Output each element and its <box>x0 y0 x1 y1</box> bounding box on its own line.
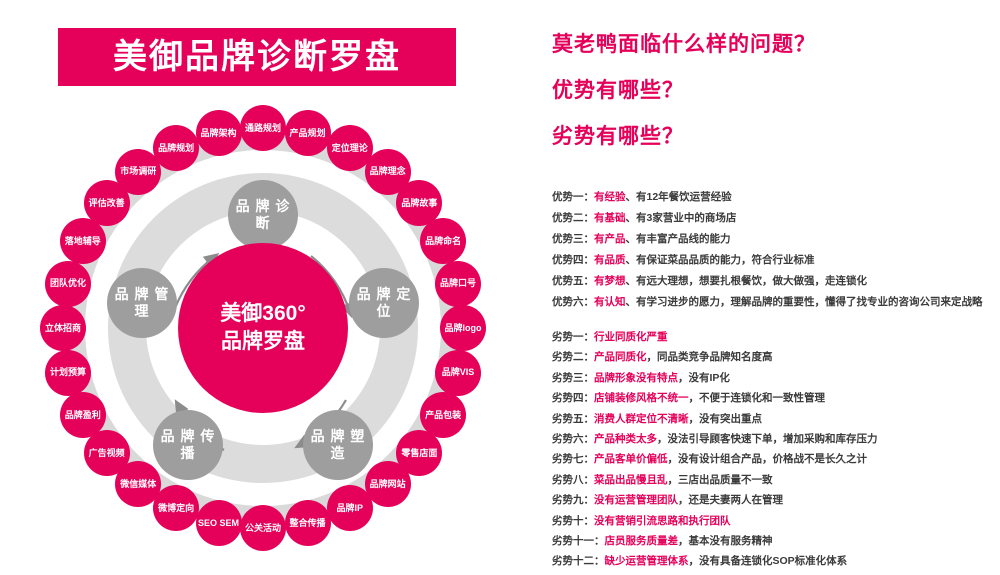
item-label: 劣势四： <box>552 392 594 404</box>
list-item: 劣势八：菜品出品慢且乱，三店出品质量不一致 <box>552 473 1000 488</box>
node-label: 品 牌 管 理 <box>107 286 177 321</box>
node-brand-diagnosis[interactable]: 品 牌 诊 断 <box>228 180 298 250</box>
node-label: 品 牌 传 播 <box>153 428 223 463</box>
item-highlight: 有基础 <box>594 212 626 224</box>
item-highlight: 消费人群定位不清晰 <box>594 413 689 425</box>
list-item: 劣势一：行业同质化严重 <box>552 330 1000 345</box>
petal-label: 产品规划 <box>289 128 325 138</box>
petal-label: 品牌口号 <box>440 278 476 288</box>
item-label: 劣势六： <box>552 433 594 445</box>
item-rest: ，没有IP化 <box>678 372 730 384</box>
petal-item[interactable]: SEO SEM <box>196 500 242 546</box>
list-item: 优势五：有梦想、有远大理想，想要扎根餐饮，做大做强，走连锁化 <box>552 274 1000 289</box>
item-label: 优势二： <box>552 212 594 224</box>
petal-label: 品牌命名 <box>425 236 461 246</box>
question-3: 劣势有哪些？ <box>552 120 992 150</box>
petal-label: 品牌IP <box>337 503 364 513</box>
node-brand-positioning[interactable]: 品 牌 定 位 <box>349 268 419 338</box>
item-rest: 、有远大理想，想要扎根餐饮，做大做强，走连锁化 <box>626 275 868 287</box>
petal-label: 品牌logo <box>445 323 482 333</box>
item-label: 劣势一： <box>552 331 594 343</box>
petal-label: 公关活动 <box>245 523 281 533</box>
petal-item[interactable]: 落地辅导 <box>60 218 106 264</box>
petal-label: 产品包装 <box>425 410 461 420</box>
petal-label: 品牌架构 <box>200 128 236 138</box>
list-item: 劣势三：品牌形象没有特点，没有IP化 <box>552 371 1000 386</box>
item-label: 劣势十： <box>552 515 594 527</box>
list-item: 劣势十一：店员服务质量差，基本没有服务精神 <box>552 534 1000 549</box>
petal-item[interactable]: 立体招商 <box>40 305 86 351</box>
left-diagram-panel: 美御品牌诊断罗盘 品 牌 诊 断 品 牌 定 位 <box>0 0 520 563</box>
item-label: 劣势八： <box>552 474 594 486</box>
petal-item[interactable]: 公关活动 <box>240 505 286 551</box>
list-item: 优势三：有产品、有丰富产品线的能力 <box>552 232 1000 247</box>
petal-item[interactable]: 品牌盈利 <box>60 392 106 438</box>
petal-item[interactable]: 品牌IP <box>327 485 373 531</box>
list-item: 劣势五：消费人群定位不清晰，没有突出重点 <box>552 412 1000 427</box>
petal-label: 零售店面 <box>401 448 437 458</box>
brand-compass-diagram: 品 牌 诊 断 品 牌 定 位 品 牌 塑 造 品 牌 传 播 品 牌 管 理 … <box>28 100 498 555</box>
item-rest: 、有12年餐饮运营经验 <box>626 191 732 203</box>
petal-label: 品牌盈利 <box>65 410 101 420</box>
item-highlight: 菜品出品慢且乱 <box>594 474 668 486</box>
title-banner: 美御品牌诊断罗盘 <box>58 28 456 86</box>
compass-core: 美御360° 品牌罗盘 <box>178 243 348 413</box>
petal-label: 团队优化 <box>50 278 86 288</box>
petal-item[interactable]: 通路规划 <box>240 105 286 151</box>
petal-item[interactable]: 品牌架构 <box>196 110 242 156</box>
core-line-1: 美御360° <box>220 300 305 328</box>
item-highlight: 没有运营管理团队 <box>594 494 678 506</box>
item-label: 优势六： <box>552 296 594 308</box>
item-rest: ，没有具备连锁化SOP标准化体系 <box>689 555 848 567</box>
item-rest: ，同品类竞争品牌知名度高 <box>647 351 773 363</box>
advantages-list: 优势一：有经验、有12年餐饮运营经验优势二：有基础、有3家营业中的商场店优势三：… <box>552 190 1000 315</box>
petal-label: 品牌理念 <box>370 166 406 176</box>
petal-label: SEO SEM <box>198 518 239 528</box>
petal-label: 微信媒体 <box>120 479 156 489</box>
list-item: 劣势四：店铺装修风格不统一，不便于连锁化和一致性管理 <box>552 391 1000 406</box>
item-label: 劣势三： <box>552 372 594 384</box>
item-rest: ，没有突出重点 <box>689 413 763 425</box>
item-highlight: 有认知 <box>594 296 626 308</box>
item-highlight: 有品质 <box>594 254 626 266</box>
item-label: 优势四： <box>552 254 594 266</box>
petal-label: 品牌故事 <box>401 198 437 208</box>
item-rest: ，还是夫妻两人在管理 <box>678 494 783 506</box>
petal-item[interactable]: 微博定向 <box>153 485 199 531</box>
core-line-2: 品牌罗盘 <box>221 328 305 356</box>
item-rest: 、有3家营业中的商场店 <box>626 212 737 224</box>
item-label: 优势一： <box>552 191 594 203</box>
item-highlight: 店铺装修风格不统一 <box>594 392 689 404</box>
item-highlight: 产品种类太多 <box>594 433 657 445</box>
petal-item[interactable]: 团队优化 <box>45 261 91 307</box>
item-label: 劣势七： <box>552 453 594 465</box>
item-highlight: 没有营销引流思路和执行团队 <box>594 515 731 527</box>
page-title: 美御品牌诊断罗盘 <box>113 40 401 74</box>
petal-label: 广告视频 <box>89 448 125 458</box>
disadvantages-list: 劣势一：行业同质化严重劣势二：产品同质化，同品类竞争品牌知名度高劣势三：品牌形象… <box>552 330 1000 575</box>
item-label: 劣势十二： <box>552 555 605 567</box>
list-item: 优势一：有经验、有12年餐饮运营经验 <box>552 190 1000 205</box>
list-item: 劣势十：没有营销引流思路和执行团队 <box>552 514 1000 529</box>
petal-item[interactable]: 计划预算 <box>45 350 91 396</box>
petal-label: 市场调研 <box>120 166 156 176</box>
petal-label: 品牌网站 <box>370 479 406 489</box>
petal-item[interactable]: 品牌VIS <box>435 350 481 396</box>
petal-label: 计划预算 <box>50 367 86 377</box>
list-item: 劣势七：产品客单价偏低，没有设计组合产品，价格战不是长久之计 <box>552 452 1000 467</box>
node-label: 品 牌 塑 造 <box>303 428 373 463</box>
item-label: 劣势九： <box>552 494 594 506</box>
petal-label: 品牌VIS <box>442 367 475 377</box>
node-label: 品 牌 诊 断 <box>228 198 298 233</box>
node-label: 品 牌 定 位 <box>349 286 419 321</box>
item-highlight: 产品同质化 <box>594 351 647 363</box>
item-label: 优势五： <box>552 275 594 287</box>
petal-item[interactable]: 品牌口号 <box>435 261 481 307</box>
question-1: 莫老鸭面临什么样的问题？ <box>552 28 992 58</box>
node-brand-management[interactable]: 品 牌 管 理 <box>107 268 177 338</box>
petal-label: 落地辅导 <box>65 236 101 246</box>
petal-item[interactable]: 产品规划 <box>285 110 331 156</box>
item-highlight: 有产品 <box>594 233 626 245</box>
item-label: 劣势五： <box>552 413 594 425</box>
list-item: 优势二：有基础、有3家营业中的商场店 <box>552 211 1000 226</box>
item-rest: ，基本没有服务精神 <box>678 535 773 547</box>
item-highlight: 行业同质化严重 <box>594 331 668 343</box>
item-rest: 、有丰富产品线的能力 <box>626 233 731 245</box>
question-2: 优势有哪些？ <box>552 74 992 104</box>
item-highlight: 品牌形象没有特点 <box>594 372 678 384</box>
petal-label: 定位理论 <box>332 143 368 153</box>
item-highlight: 产品客单价偏低 <box>594 453 668 465</box>
list-item: 劣势六：产品种类太多，没法引导顾客快速下单，增加采购和库存压力 <box>552 432 1000 447</box>
item-rest: ，没有设计组合产品，价格战不是长久之计 <box>668 453 868 465</box>
list-item: 劣势二：产品同质化，同品类竞争品牌知名度高 <box>552 350 1000 365</box>
petal-item[interactable]: 品牌规划 <box>153 125 199 171</box>
petal-item[interactable]: 品牌logo <box>440 305 486 351</box>
petal-label: 品牌规划 <box>158 143 194 153</box>
item-rest: 、有学习进步的愿力，理解品牌的重要性，懂得了找专业的咨询公司来定战略 <box>626 296 983 308</box>
item-rest: ，三店出品质量不一致 <box>668 474 773 486</box>
questions-block: 莫老鸭面临什么样的问题？ 优势有哪些？ 劣势有哪些？ <box>552 28 992 166</box>
item-highlight: 店员服务质量差 <box>605 535 679 547</box>
list-item: 优势四：有品质、有保证菜品品质的能力，符合行业标准 <box>552 253 1000 268</box>
item-label: 劣势二： <box>552 351 594 363</box>
petal-item[interactable]: 品牌命名 <box>420 218 466 264</box>
item-label: 优势三： <box>552 233 594 245</box>
petal-label: 通路规划 <box>245 123 281 133</box>
item-rest: 、有保证菜品品质的能力，符合行业标准 <box>626 254 815 266</box>
list-item: 优势六：有认知、有学习进步的愿力，理解品牌的重要性，懂得了找专业的咨询公司来定战… <box>552 295 1000 310</box>
petal-item[interactable]: 整合传播 <box>285 500 331 546</box>
list-item: 劣势十二：缺少运营管理体系，没有具备连锁化SOP标准化体系 <box>552 554 1000 569</box>
item-rest: ，没法引导顾客快速下单，增加采购和库存压力 <box>657 433 878 445</box>
item-label: 劣势十一： <box>552 535 605 547</box>
item-highlight: 有经验 <box>594 191 626 203</box>
petal-label: 立体招商 <box>45 323 81 333</box>
item-highlight: 有梦想 <box>594 275 626 287</box>
item-highlight: 缺少运营管理体系 <box>605 555 689 567</box>
list-item: 劣势九：没有运营管理团队，还是夫妻两人在管理 <box>552 493 1000 508</box>
petal-label: 整合传播 <box>289 518 325 528</box>
node-brand-communication[interactable]: 品 牌 传 播 <box>153 410 223 480</box>
petal-label: 评估改善 <box>89 198 125 208</box>
node-brand-shaping[interactable]: 品 牌 塑 造 <box>303 410 373 480</box>
right-text-panel: 莫老鸭面临什么样的问题？ 优势有哪些？ 劣势有哪些？ 优势一：有经验、有12年餐… <box>540 0 1000 563</box>
item-rest: ，不便于连锁化和一致性管理 <box>689 392 826 404</box>
petal-label: 微博定向 <box>158 503 194 513</box>
